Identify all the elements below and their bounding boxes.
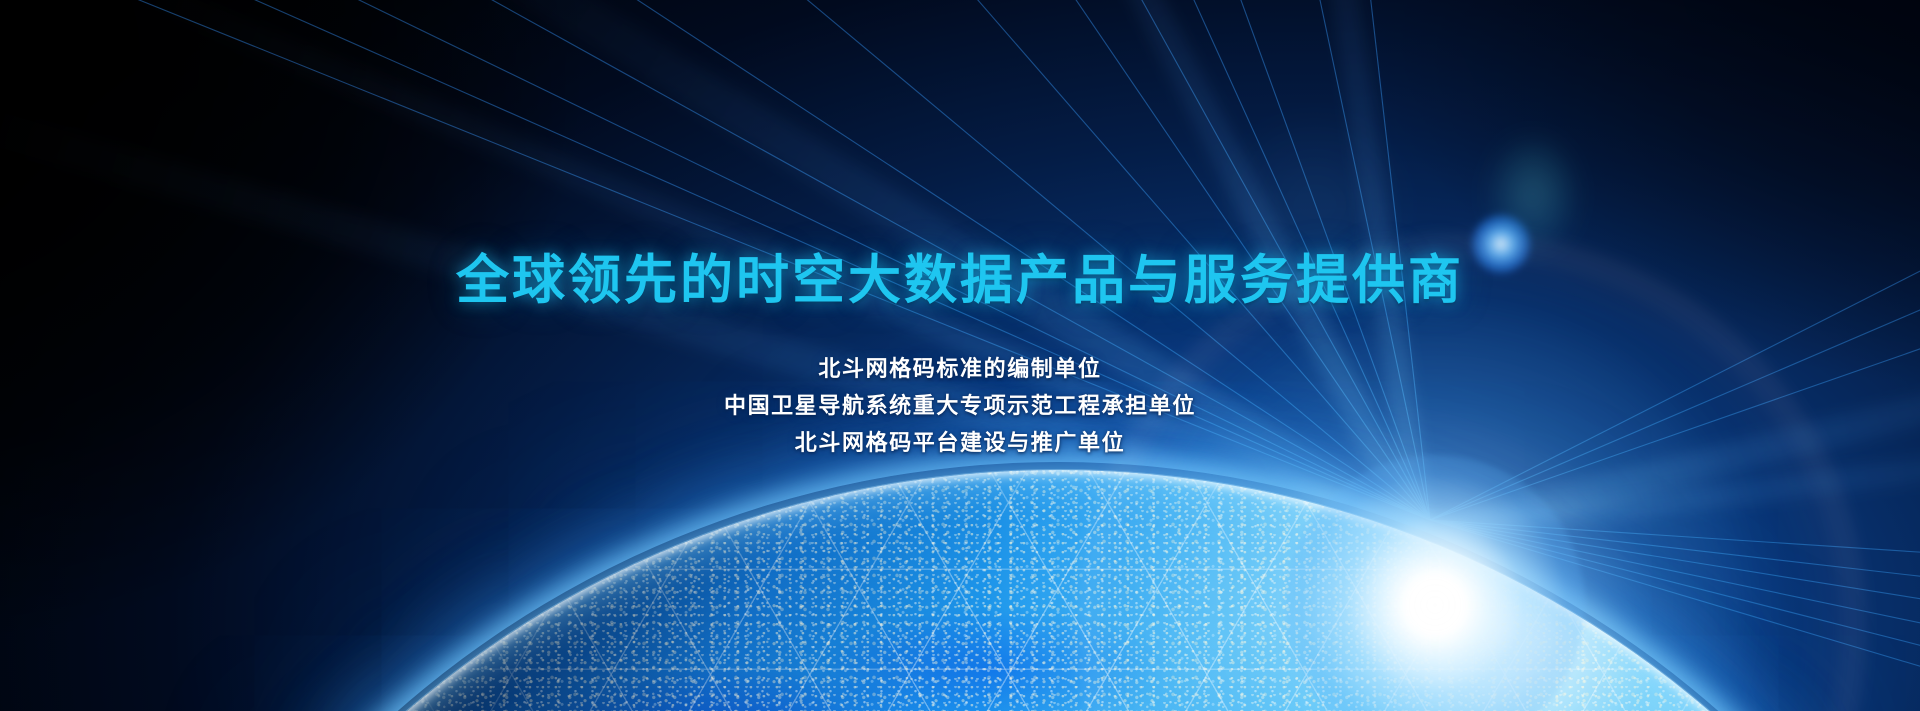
globe-sphere <box>58 470 1920 711</box>
earth-globe <box>0 0 1920 711</box>
globe-night-side <box>58 470 1920 711</box>
hero-banner: 全球领先的时空大数据产品与服务提供商 北斗网格码标准的编制单位 中国卫星导航系统… <box>0 0 1920 711</box>
